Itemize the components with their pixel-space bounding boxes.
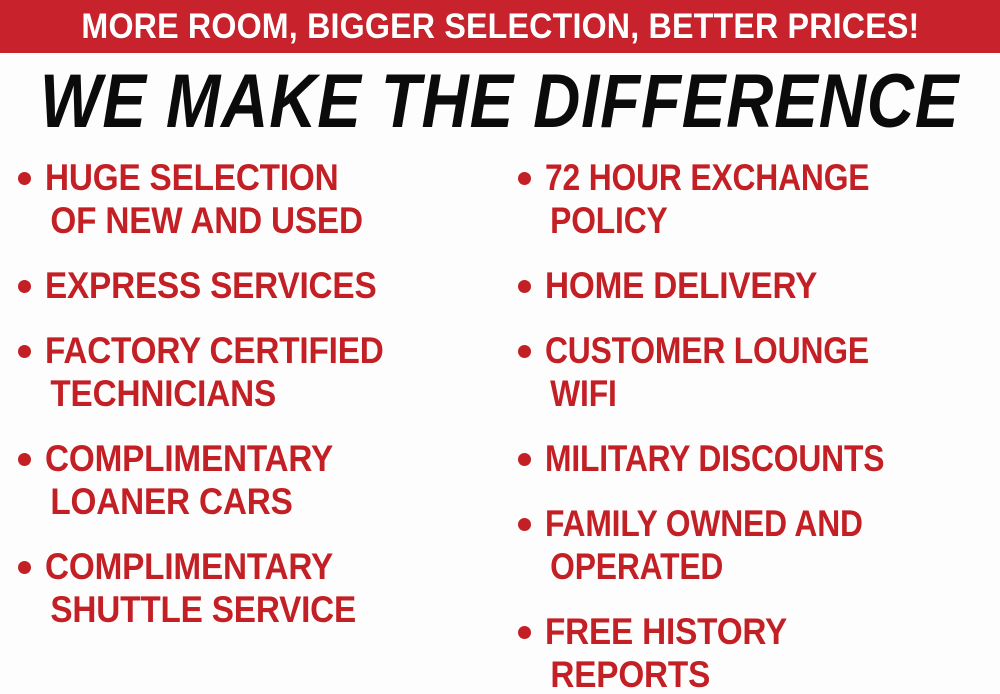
list-item-line1: COMPLIMENTARY: [45, 546, 333, 587]
list-item-line2: TECHNICIANS: [45, 372, 384, 415]
list-item: 72 HOUR EXCHANGEPOLICY: [518, 156, 1000, 242]
list-item-line1: FACTORY CERTIFIED: [45, 330, 384, 371]
list-item-line2: SHUTTLE SERVICE: [45, 588, 356, 631]
list-item-line2: WIFI: [545, 372, 869, 415]
bullet-dot-icon: [518, 518, 531, 531]
page-title: WE MAKE THE DIFFERENCE: [40, 64, 959, 140]
bullet-dot-icon: [518, 280, 531, 293]
list-item-label: FAMILY OWNED ANDOPERATED: [545, 502, 863, 588]
list-item-label: EXPRESS SERVICES: [45, 264, 376, 307]
list-item-line1: FAMILY OWNED AND: [545, 503, 863, 544]
bullet-dot-icon: [518, 172, 531, 185]
list-item-label: 72 HOUR EXCHANGEPOLICY: [545, 156, 869, 242]
list-item-label: COMPLIMENTARYSHUTTLE SERVICE: [45, 545, 356, 631]
list-item-line2: OPERATED: [545, 545, 863, 588]
list-item-label: FACTORY CERTIFIEDTECHNICIANS: [45, 329, 384, 415]
list-item-line2: OF NEW AND USED: [45, 199, 363, 242]
list-item-line1: HUGE SELECTION: [45, 157, 339, 198]
list-item-label: HOME DELIVERY: [545, 264, 817, 307]
list-item: FAMILY OWNED ANDOPERATED: [518, 502, 1000, 588]
list-item: MILITARY DISCOUNTS: [518, 437, 1000, 480]
list-item-label: MILITARY DISCOUNTS: [545, 437, 884, 480]
list-item-label: FREE HISTORYREPORTS: [545, 610, 787, 694]
list-item-label: HUGE SELECTIONOF NEW AND USED: [45, 156, 363, 242]
bullet-dot-icon: [518, 453, 531, 466]
list-item-line1: FREE HISTORY: [545, 611, 787, 652]
headline-container: WE MAKE THE DIFFERENCE: [0, 60, 1000, 144]
list-item-line1: 72 HOUR EXCHANGE: [545, 157, 869, 198]
list-item-line2: POLICY: [545, 199, 869, 242]
bullet-dot-icon: [518, 345, 531, 358]
list-item-line1: EXPRESS SERVICES: [45, 265, 376, 306]
top-banner: MORE ROOM, BIGGER SELECTION, BETTER PRIC…: [0, 0, 1000, 53]
list-item: CUSTOMER LOUNGEWIFI: [518, 329, 1000, 415]
list-item-line1: CUSTOMER LOUNGE: [545, 330, 869, 371]
list-item-line2: LOANER CARS: [45, 480, 333, 523]
list-item: FREE HISTORYREPORTS: [518, 610, 1000, 694]
list-item-label: CUSTOMER LOUNGEWIFI: [545, 329, 869, 415]
top-banner-text: MORE ROOM, BIGGER SELECTION, BETTER PRIC…: [81, 9, 919, 44]
list-item-line1: COMPLIMENTARY: [45, 438, 333, 479]
list-item-label: COMPLIMENTARYLOANER CARS: [45, 437, 333, 523]
list-item-line1: HOME DELIVERY: [545, 265, 817, 306]
list-item-line2: REPORTS: [545, 653, 787, 694]
list-item-line1: MILITARY DISCOUNTS: [545, 438, 884, 479]
bullet-dot-icon: [518, 626, 531, 639]
promo-poster: MORE ROOM, BIGGER SELECTION, BETTER PRIC…: [0, 0, 1000, 694]
list-item: HOME DELIVERY: [518, 264, 1000, 307]
benefits-columns: HUGE SELECTIONOF NEW AND USED EXPRESS SE…: [0, 156, 1000, 694]
